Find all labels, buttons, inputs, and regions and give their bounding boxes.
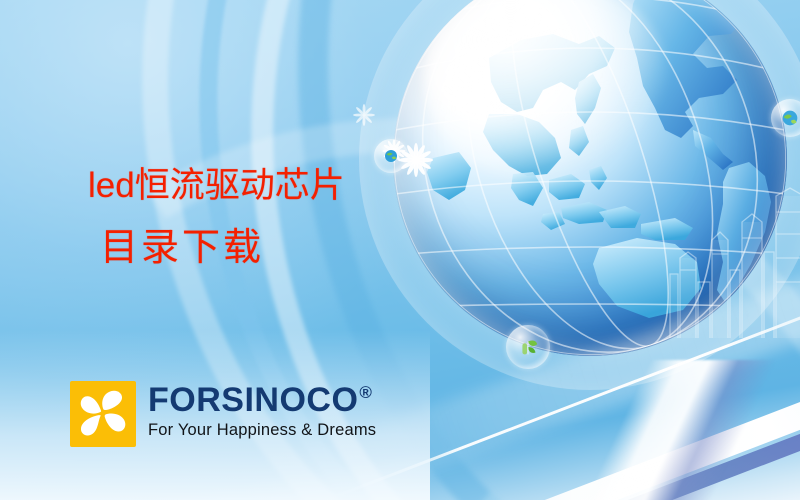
brand-name-text: FORSINOCO: [148, 383, 358, 417]
corner-accent-wedge: [510, 360, 800, 500]
green-leaf-sprout-icon: [515, 334, 541, 360]
flower-sparkle-icon: [353, 104, 375, 126]
registered-trademark-icon: ®: [359, 384, 372, 401]
city-skyline-silhouette-icon: [666, 178, 800, 338]
brand-name: FORSINOCO ®: [148, 383, 376, 417]
banner-canvas: led恒流驱动芯片 目录下载 FORSINOCO ® For Your Happ…: [0, 0, 800, 500]
headline-line-1: led恒流驱动芯片: [88, 166, 345, 205]
headline-line-2: 目录下载: [100, 227, 345, 270]
logo-mark: [70, 381, 136, 447]
brand-tagline: For Your Happiness & Dreams: [148, 421, 376, 440]
bubble-eco-globe: [374, 139, 408, 173]
logo-text-block: FORSINOCO ® For Your Happiness & Dreams: [148, 381, 376, 440]
eco-globe-icon: [779, 107, 800, 129]
headline: led恒流驱动芯片 目录下载: [88, 166, 345, 270]
eco-globe-icon: [382, 147, 400, 165]
pinwheel-flower-icon: [70, 381, 136, 447]
brand-logo: FORSINOCO ® For Your Happiness & Dreams: [70, 381, 376, 447]
